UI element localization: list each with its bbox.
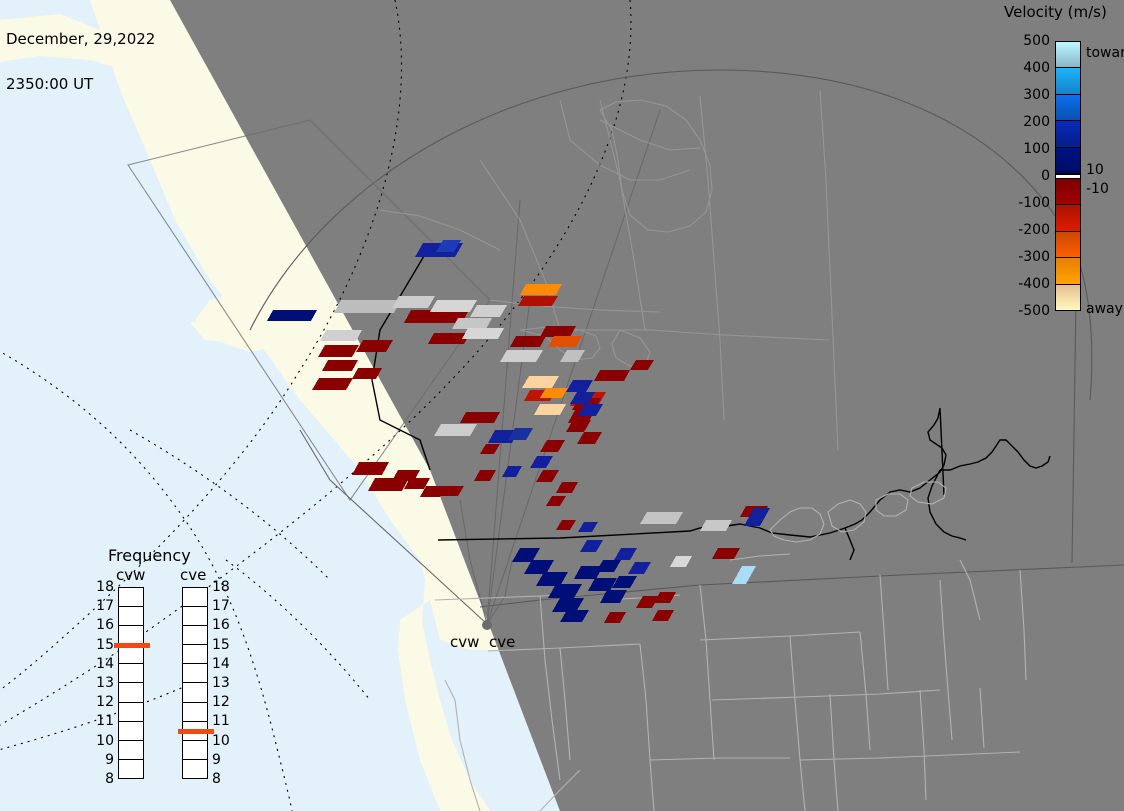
frequency-tick-left-8: 8	[92, 772, 114, 786]
velocity-cell	[580, 540, 603, 552]
frequency-tick-left-14: 14	[92, 657, 114, 671]
frequency-cell-cve-0	[183, 588, 207, 607]
frequency-column-header-cve: cve	[180, 566, 206, 584]
frequency-legend-title: Frequency	[108, 546, 191, 565]
velocity-cell	[540, 326, 576, 337]
frequency-tick-left-18: 18	[92, 580, 114, 594]
frequency-tick-left-15: 15	[92, 638, 114, 652]
frequency-cell-cve-4	[183, 664, 207, 683]
frequency-tick-left-12: 12	[92, 695, 114, 709]
velocity-cell	[640, 512, 683, 524]
frequency-tick-right-18: 18	[212, 580, 234, 594]
velocity-cell	[392, 296, 435, 308]
velocity-cell	[540, 440, 565, 452]
colorbar-segment-neg-4	[1056, 285, 1080, 310]
frequency-cell-cve-1	[183, 607, 207, 626]
frequency-cell-cve-5	[183, 683, 207, 702]
frequency-cell-cvw-0	[119, 588, 143, 607]
frequency-tick-right-15: 15	[212, 638, 234, 652]
frequency-tick-left-10: 10	[92, 734, 114, 748]
colorbar-away-label: away	[1086, 302, 1123, 316]
velocity-cell	[452, 318, 492, 329]
velocity-cell	[508, 428, 533, 440]
frequency-cell-cvw-3	[119, 645, 143, 664]
colorbar-lower-threshold-label: -10	[1086, 182, 1109, 196]
velocity-cell	[536, 470, 559, 482]
colorbar-tick--200: -200	[1000, 223, 1050, 237]
colorbar-tick--500: -500	[1000, 304, 1050, 318]
velocity-cell	[352, 462, 389, 475]
velocity-cell	[520, 284, 562, 295]
frequency-tick-left-11: 11	[92, 714, 114, 728]
timestamp-date: December, 29,2022	[6, 32, 155, 47]
colorbar-tick-200: 200	[1000, 115, 1050, 129]
frequency-tick-right-12: 12	[212, 695, 234, 709]
velocity-cell	[712, 548, 740, 559]
colorbar-tick-100: 100	[1000, 142, 1050, 156]
velocity-cell	[460, 412, 500, 423]
velocity-cell	[652, 610, 674, 621]
velocity-cell	[522, 376, 559, 388]
frequency-cell-cvw-5	[119, 683, 143, 702]
colorbar-segment-pos-4	[1056, 148, 1080, 174]
frequency-tick-left-17: 17	[92, 599, 114, 613]
colorbar-tick-500: 500	[1000, 34, 1050, 48]
velocity-cell	[318, 345, 359, 357]
velocity-cell	[434, 424, 477, 436]
frequency-tick-right-14: 14	[212, 657, 234, 671]
frequency-cell-cvw-7	[119, 722, 143, 741]
velocity-cell	[510, 336, 546, 347]
colorbar-title: Velocity (m/s)	[1004, 3, 1124, 21]
velocity-cell	[578, 522, 598, 532]
radar-site-label-cvw: cvw	[450, 633, 479, 651]
velocity-cell	[312, 378, 353, 390]
frequency-tick-right-9: 9	[212, 753, 234, 767]
colorbar-tick-0: 0	[1000, 169, 1050, 183]
velocity-cell	[556, 482, 578, 493]
velocity-cell	[628, 562, 651, 574]
colorbar-upper-threshold-label: 10	[1086, 163, 1104, 177]
velocity-cell	[267, 310, 317, 321]
colorbar-segment-neg-0	[1056, 179, 1080, 205]
velocity-cell	[577, 432, 602, 444]
frequency-marker-cvw	[114, 643, 150, 648]
velocity-cell	[334, 300, 401, 313]
frequency-cell-cve-9	[183, 760, 207, 778]
velocity-cell	[654, 592, 676, 603]
frequency-tick-right-13: 13	[212, 676, 234, 690]
velocity-cell	[546, 496, 566, 506]
colorbar-tick--300: -300	[1000, 250, 1050, 264]
frequency-tick-right-11: 11	[212, 714, 234, 728]
colorbar-segment-pos-3	[1056, 121, 1080, 147]
colorbar-tick--400: -400	[1000, 277, 1050, 291]
frequency-cell-cve-8	[183, 741, 207, 760]
colorbar-toward-label: toward	[1086, 46, 1124, 60]
frequency-scale-cve	[182, 587, 208, 779]
colorbar-segment-neg-3	[1056, 258, 1080, 284]
colorbar-segment-neg-2	[1056, 232, 1080, 258]
colorbar-segment-neg-1	[1056, 205, 1080, 231]
frequency-column-header-cvw: cvw	[116, 566, 145, 584]
velocity-cell	[630, 360, 654, 370]
velocity-cell	[588, 578, 617, 591]
velocity-cell	[518, 296, 558, 306]
velocity-cell	[566, 380, 593, 392]
colorbar-gradient	[1055, 41, 1081, 311]
velocity-colorbar: Velocity (m/s) 5004003002001000-100-200-…	[1000, 0, 1124, 340]
radar-site-label-cve: cve	[489, 633, 515, 651]
velocity-cell	[530, 456, 553, 468]
velocity-cell	[430, 300, 477, 312]
colorbar-tick--100: -100	[1000, 196, 1050, 210]
frequency-tick-right-17: 17	[212, 599, 234, 613]
timestamp-block: December, 29,2022 2350:00 UT	[6, 2, 155, 122]
velocity-cell	[540, 388, 568, 398]
velocity-cell	[548, 584, 582, 598]
colorbar-segment-pos-2	[1056, 95, 1080, 121]
colorbar-tick-300: 300	[1000, 88, 1050, 102]
velocity-cell	[502, 466, 522, 477]
frequency-tick-left-16: 16	[92, 618, 114, 632]
frequency-scale-cvw	[118, 587, 144, 779]
frequency-legend: Frequency cvw cve 18171615141312111098 1…	[92, 546, 242, 786]
velocity-cell	[732, 566, 756, 584]
frequency-tick-right-10: 10	[212, 734, 234, 748]
colorbar-segment-pos-1	[1056, 68, 1080, 94]
frequency-cell-cve-2	[183, 626, 207, 645]
velocity-cell	[474, 470, 496, 481]
colorbar-tick-400: 400	[1000, 61, 1050, 75]
frequency-tick-left-9: 9	[92, 753, 114, 767]
colorbar-segment-pos-0	[1056, 42, 1080, 68]
velocity-cell	[700, 520, 732, 531]
frequency-cell-cvw-9	[119, 760, 143, 778]
velocity-cell	[322, 360, 358, 371]
velocity-cell	[352, 368, 382, 379]
velocity-cell	[548, 336, 582, 347]
frequency-tick-left-13: 13	[92, 676, 114, 690]
velocity-cell	[480, 444, 500, 454]
velocity-cell	[596, 560, 621, 572]
velocity-cell	[604, 612, 626, 623]
velocity-cell	[512, 548, 540, 562]
velocity-cell	[556, 520, 576, 530]
velocity-cell	[534, 404, 566, 415]
frequency-cell-cve-6	[183, 703, 207, 722]
timestamp-time: 2350:00 UT	[6, 77, 155, 92]
velocity-cell	[356, 340, 393, 352]
frequency-marker-cve	[178, 729, 214, 734]
velocity-cell	[320, 330, 362, 341]
velocity-cell	[600, 590, 627, 603]
velocity-cell	[612, 576, 637, 588]
velocity-cell	[470, 305, 507, 317]
superdarn-velocity-map: December, 29,2022 2350:00 UT Velocity (m…	[0, 0, 1124, 811]
velocity-cell	[552, 598, 584, 612]
velocity-cell	[524, 560, 554, 574]
frequency-tick-right-16: 16	[212, 618, 234, 632]
frequency-cell-cvw-6	[119, 703, 143, 722]
frequency-cell-cvw-1	[119, 607, 143, 626]
velocity-cell	[670, 556, 692, 567]
radar-site-marker-icon	[478, 616, 496, 634]
velocity-cell	[560, 350, 585, 362]
velocity-cell	[614, 548, 637, 560]
frequency-tick-right-8: 8	[212, 772, 234, 786]
velocity-cell	[500, 350, 543, 362]
frequency-cell-cvw-4	[119, 664, 143, 683]
velocity-cell	[462, 328, 504, 339]
velocity-cell	[536, 572, 568, 586]
frequency-cell-cvw-8	[119, 741, 143, 760]
velocity-cell	[594, 370, 630, 381]
frequency-cell-cve-3	[183, 645, 207, 664]
